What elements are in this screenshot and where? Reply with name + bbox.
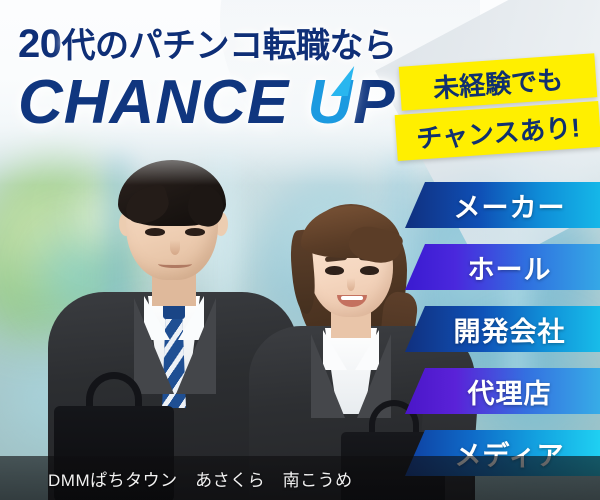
category-button-maker[interactable]: メーカー xyxy=(405,182,600,228)
category-button-development-company[interactable]: 開発会社 xyxy=(405,306,600,352)
woman-eye-right xyxy=(360,266,379,275)
man-lapel-right xyxy=(176,298,216,394)
advertisement-banner[interactable]: 20代のパチンコ転職なら CHANCE UP 未経験でも チャンスあり! メーカ… xyxy=(0,0,600,500)
page-title: 20代のパチンコ転職なら xyxy=(18,18,397,67)
woman-lapel-left xyxy=(311,334,345,418)
badge-label: チャンスあり! xyxy=(415,107,581,155)
woman-nose xyxy=(347,278,355,291)
footer-credit-text: DMMぱちタウン あさくら 南こうめ xyxy=(0,466,353,491)
category-button-list: メーカー ホール 開発会社 代理店 メディア xyxy=(405,182,600,492)
logo-text-chance: CHANCE xyxy=(18,68,307,137)
logo-text-p: P xyxy=(353,68,395,137)
man-eye-right xyxy=(185,228,205,236)
woman-bangs xyxy=(301,206,401,258)
chance-up-logo: CHANCE UP xyxy=(18,72,396,134)
man-mouth xyxy=(158,260,192,268)
woman-eye-left xyxy=(325,266,344,275)
man-nose xyxy=(170,240,180,255)
category-label: メーカー xyxy=(440,186,566,225)
headline-text: 代のパチンコ転職なら xyxy=(62,27,397,65)
logo-letter-u-accent: U xyxy=(307,72,353,134)
category-button-agency[interactable]: 代理店 xyxy=(405,368,600,414)
headline-number: 20 xyxy=(18,22,62,66)
category-label: ホール xyxy=(454,248,552,287)
category-label: 代理店 xyxy=(454,372,552,411)
badge-label: 未経験でも xyxy=(432,59,564,105)
man-eye-left xyxy=(145,228,165,236)
category-button-hall[interactable]: ホール xyxy=(405,244,600,290)
category-label: 開発会社 xyxy=(440,310,566,349)
man-lapel-left xyxy=(134,298,174,394)
footer-credit-bar: DMMぱちタウン あさくら 南こうめ xyxy=(0,456,600,500)
